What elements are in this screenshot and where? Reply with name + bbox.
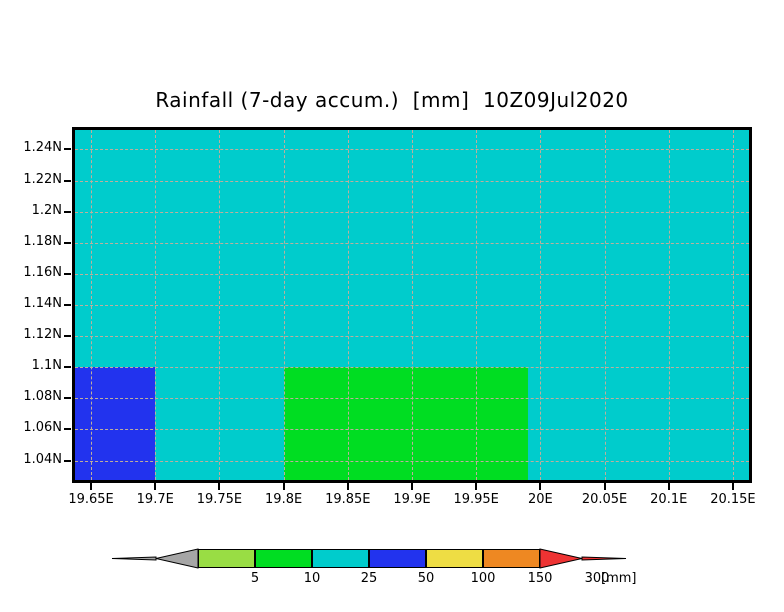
colorbar-tick-label: 5 [251,571,259,586]
gridline-horizontal [75,336,749,338]
colorbar-segment-10-25 [255,549,312,568]
y-axis-tick-label: 1.18N [23,234,62,249]
y-axis-tick-label: 1.12N [23,327,62,342]
y-axis-tick-label: 1.22N [23,172,62,187]
x-axis-tick-label: 19.9E [393,492,430,507]
x-axis-tick [539,483,541,490]
x-axis-tick-label: 20.15E [710,492,755,507]
gridline-horizontal [75,429,749,431]
x-axis-tick [411,483,413,490]
green-patch-south-central [284,367,528,480]
y-axis-tick-label: 1.2N [32,203,62,218]
x-axis-tick [475,483,477,490]
x-axis-tick [668,483,670,490]
gridline-horizontal [75,149,749,151]
gridline-horizontal [75,398,749,400]
colorbar-segment-5-10 [198,549,255,568]
y-axis-tick [64,211,71,213]
gridline-horizontal [75,305,749,307]
plot-area [72,127,752,483]
colorbar-segment-25-50 [312,549,369,568]
x-axis-tick-label: 19.75E [197,492,242,507]
colorbar-tick-label: 150 [528,571,553,586]
x-axis-tick [732,483,734,490]
y-axis-tick [64,428,71,430]
colorbar-tick-label: 25 [361,571,378,586]
colorbar-segment-over-300 [540,549,582,568]
x-axis-tick [90,483,92,490]
y-axis-tick [64,242,71,244]
colorbar-segment-50-100 [369,549,426,568]
x-axis-tick-label: 20E [528,492,553,507]
colorbar-over-tail [582,557,626,560]
gridline-horizontal [75,274,749,276]
x-axis-tick [604,483,606,490]
gridline-horizontal [75,181,749,183]
gridline-horizontal [75,212,749,214]
y-axis-tick-label: 1.08N [23,389,62,404]
colorbar-segment-100-150 [426,549,483,568]
y-axis-tick [64,397,71,399]
gridline-horizontal [75,243,749,245]
y-axis-tick [64,366,71,368]
colorbar-tick-label: 10 [304,571,321,586]
x-axis-tick-label: 19.65E [68,492,113,507]
x-axis-tick-label: 19.7E [137,492,174,507]
colorbar-tick-label: 300 [585,571,610,586]
x-axis-tick [154,483,156,490]
y-axis-tick [64,273,71,275]
x-axis-tick [283,483,285,490]
y-axis-tick-label: 1.16N [23,265,62,280]
gridline-horizontal [75,367,749,369]
y-axis-tick [64,335,71,337]
y-axis-tick-label: 1.04N [23,452,62,467]
x-axis-tick-label: 19.8E [265,492,302,507]
y-axis-tick-label: 1.1N [32,358,62,373]
y-axis-tick [64,304,71,306]
y-axis-tick-label: 1.14N [23,296,62,311]
page-title: Rainfall (7-day accum.) [mm] 10Z09Jul202… [0,88,784,112]
blue-patch-southwest [75,367,155,480]
x-axis-tick-label: 20.1E [650,492,687,507]
colorbar-tick-label: 50 [418,571,435,586]
x-axis-tick [218,483,220,490]
colorbar-segment-under-5 [156,549,198,568]
x-axis-tick-label: 19.95E [453,492,498,507]
colorbar-under-tail [112,557,156,560]
x-axis-tick [347,483,349,490]
y-axis-tick-label: 1.24N [23,140,62,155]
y-axis-tick [64,460,71,462]
x-axis-tick-label: 20.05E [582,492,627,507]
y-axis-tick [64,180,71,182]
gridline-horizontal [75,461,749,463]
y-axis-tick [64,148,71,150]
rainfall-field-canvas [75,130,749,480]
colorbar-segment-150-300 [483,549,540,568]
x-axis-tick-label: 19.85E [325,492,370,507]
colorbar: [mm] 5102550100150300 [0,545,784,605]
colorbar-tick-label: 100 [471,571,496,586]
y-axis-tick-label: 1.06N [23,420,62,435]
